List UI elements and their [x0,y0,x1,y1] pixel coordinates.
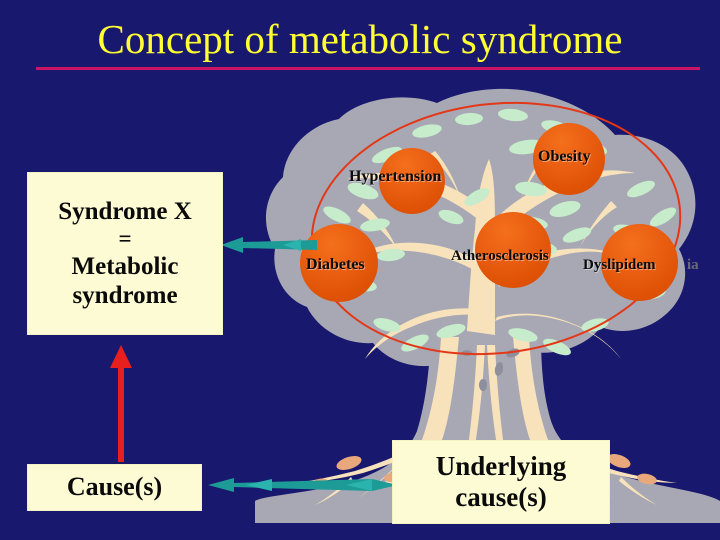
causes-label: Cause(s) [67,472,162,502]
title-underline-rule [36,67,700,70]
label-obesity: Obesity [538,148,590,166]
arrow-cause-to-syndrome [108,345,134,462]
causes-box: Cause(s) [27,464,202,511]
label-dyslipidemia: Dyslipidem [583,257,656,274]
underlying-line-1: Underlying [436,451,567,482]
label-atherosclerosis: Atherosclerosis [451,248,549,265]
label-dyslipidemia-tail: ia [687,257,699,274]
syndrome-line-1: Syndrome X [58,197,192,226]
underlying-line-2: cause(s) [455,482,546,513]
label-diabetes: Diabetes [306,256,365,274]
arrow-cause-to-underlying [208,474,398,496]
underlying-causes-box: Underlying cause(s) [392,440,610,524]
label-hypertension: Hypertension [349,168,441,186]
page-title: Concept of metabolic syndrome [0,18,720,61]
syndrome-x-box: Syndrome X = Metabolic syndrome [27,172,223,335]
slide-canvas: Concept of metabolic syndrome [0,0,720,540]
syndrome-equals-sign: = [118,226,131,253]
syndrome-line-3: Metabolic [72,252,179,281]
syndrome-line-4: syndrome [72,281,177,310]
arrow-tree-to-syndrome [221,232,317,258]
